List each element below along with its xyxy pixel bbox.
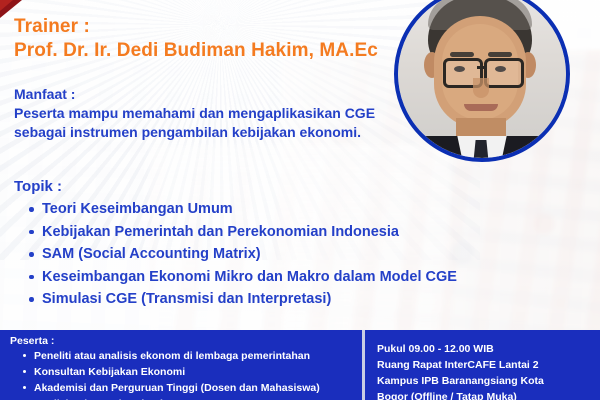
poster-canvas: Trainer : Prof. Dr. Ir. Dedi Budiman Hak… (0, 0, 600, 400)
list-item: Teori Keseimbangan Umum (42, 198, 457, 221)
venue-campus: Kampus IPB Baranangsiang Kota (377, 373, 544, 389)
list-item: Konsultan Kebijakan Ekonomi (34, 364, 320, 380)
list-item: Kebijakan Pemerintah dan Perekonomian In… (42, 221, 457, 244)
bottom-panels: Peserta : Peneliti atau analisis ekonom … (0, 330, 600, 400)
peserta-list: Peneliti atau analisis ekonom di lembaga… (18, 348, 320, 400)
trainer-label: Trainer : (14, 16, 90, 38)
venue-room: Ruang Rapat InterCAFE Lantai 2 (377, 357, 544, 373)
manfaat-body: Peserta mampu memahami dan mengaplikasik… (14, 104, 394, 142)
venue-time: Pukul 09.00 - 12.00 WIB (377, 341, 544, 357)
venue-panel: Pukul 09.00 - 12.00 WIB Ruang Rapat Inte… (365, 330, 600, 400)
list-item: SAM (Social Accounting Matrix) (42, 243, 457, 266)
list-item: Keseimbangan Ekonomi Mikro dan Makro dal… (42, 266, 457, 289)
list-item: Peneliti atau analisis ekonom di lembaga… (34, 348, 320, 364)
peserta-label: Peserta : (10, 335, 54, 347)
list-item: Analisis Ekonomi Perbankan (34, 396, 320, 400)
manfaat-label: Manfaat : (14, 86, 75, 102)
topik-label: Topik : (14, 178, 62, 195)
venue-details: Pukul 09.00 - 12.00 WIB Ruang Rapat Inte… (377, 341, 544, 400)
list-item: Akademisi dan Perguruan Tinggi (Dosen da… (34, 380, 320, 396)
trainer-name: Prof. Dr. Ir. Dedi Budiman Hakim, MA.Ec (14, 40, 378, 62)
venue-city-mode: Bogor (Offline / Tatap Muka) (377, 389, 544, 400)
list-item: Simulasi CGE (Transmisi dan Interpretasi… (42, 288, 457, 311)
poster-content: Trainer : Prof. Dr. Ir. Dedi Budiman Hak… (0, 0, 600, 330)
peserta-panel: Peserta : Peneliti atau analisis ekonom … (0, 330, 362, 400)
topik-list: Teori Keseimbangan Umum Kebijakan Pemeri… (22, 198, 457, 311)
